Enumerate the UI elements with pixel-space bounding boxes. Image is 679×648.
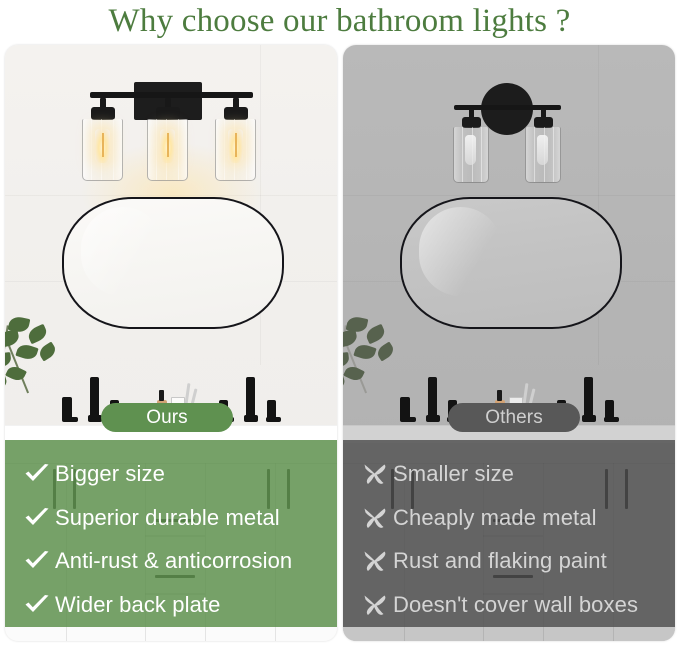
plant-leaf [15, 342, 38, 361]
plant-leaf [353, 342, 376, 361]
feature-label: Rust and flaking paint [393, 548, 607, 574]
page-title: Why choose our bathroom lights ? [0, 0, 679, 45]
feature-item: Doesn't cover wall boxes [357, 583, 675, 627]
shade-rib [553, 127, 554, 182]
faucet-spout [428, 377, 437, 419]
check-icon [19, 549, 55, 573]
dropper-cap [497, 390, 502, 401]
shade-rib [534, 127, 535, 182]
plant-leaf [26, 324, 49, 345]
decor-plant [343, 315, 413, 405]
shade-rib [246, 119, 247, 180]
bathroom-mirror [400, 197, 622, 329]
feature-label: Doesn't cover wall boxes [393, 592, 638, 618]
shade-rib [113, 119, 114, 180]
badge-ours: Ours [101, 403, 233, 432]
dropper-cap [159, 390, 164, 401]
feature-item: Cheaply made metal [357, 496, 675, 540]
shade-rib [156, 119, 157, 180]
faucet-handle [267, 400, 276, 419]
mirror-sheen [81, 207, 164, 297]
plant-leaf [343, 329, 358, 348]
bulb-filament [167, 133, 169, 157]
feature-label: Bigger size [55, 461, 165, 487]
cross-icon [357, 593, 393, 617]
feature-list-others: Smaller size Cheaply made metal Rust and… [343, 440, 675, 627]
check-icon [19, 506, 55, 530]
shade-rib [178, 119, 179, 180]
feature-item: Smaller size [357, 452, 675, 496]
plant-leaf [375, 341, 396, 361]
feature-label: Anti-rust & anticorrosion [55, 548, 292, 574]
feature-label: Superior durable metal [55, 505, 280, 531]
feature-label: Cheaply made metal [393, 505, 597, 531]
faucet-spout [90, 377, 99, 419]
faucet-spout [584, 377, 593, 419]
light-bulb [465, 135, 476, 165]
feature-item: Wider back plate [19, 583, 337, 627]
cross-icon [357, 462, 393, 486]
faucet-spout [246, 377, 255, 419]
cross-icon [357, 506, 393, 530]
shade-rib [462, 127, 463, 182]
wall-seam [598, 45, 599, 365]
wall-seam [260, 45, 261, 365]
plant-leaf [364, 324, 387, 345]
plant-leaf [5, 329, 20, 348]
plant-leaf [37, 341, 58, 361]
shade-rib [91, 119, 92, 180]
feature-label: Wider back plate [55, 592, 220, 618]
comparison-container: Ours Bigger size Superior durable metal [0, 45, 679, 645]
wall-seam [343, 195, 675, 196]
fixture-bar [90, 92, 253, 98]
badge-others: Others [448, 403, 580, 432]
feature-item: Rust and flaking paint [357, 540, 675, 584]
bathroom-mirror [62, 197, 284, 329]
light-bulb [537, 135, 548, 165]
shade-rib [481, 127, 482, 182]
mirror-sheen [419, 207, 502, 297]
feature-label: Smaller size [393, 461, 514, 487]
check-icon [19, 593, 55, 617]
comparison-panel-ours: Ours Bigger size Superior durable metal [5, 45, 337, 641]
faucet-handle [62, 397, 72, 419]
shade-rib [224, 119, 225, 180]
feature-item: Bigger size [19, 452, 337, 496]
bulb-filament [235, 133, 237, 157]
faucet-handle [400, 397, 410, 419]
feature-item: Superior durable metal [19, 496, 337, 540]
comparison-panel-others: Others Smaller size Cheaply made metal [343, 45, 675, 641]
feature-list-ours: Bigger size Superior durable metal Anti-… [5, 440, 337, 627]
feature-item: Anti-rust & anticorrosion [19, 540, 337, 584]
check-icon [19, 462, 55, 486]
faucet-handle [605, 400, 614, 419]
wall-seam [5, 195, 337, 196]
bulb-filament [102, 133, 104, 157]
cross-icon [357, 549, 393, 573]
decor-plant [5, 315, 75, 405]
